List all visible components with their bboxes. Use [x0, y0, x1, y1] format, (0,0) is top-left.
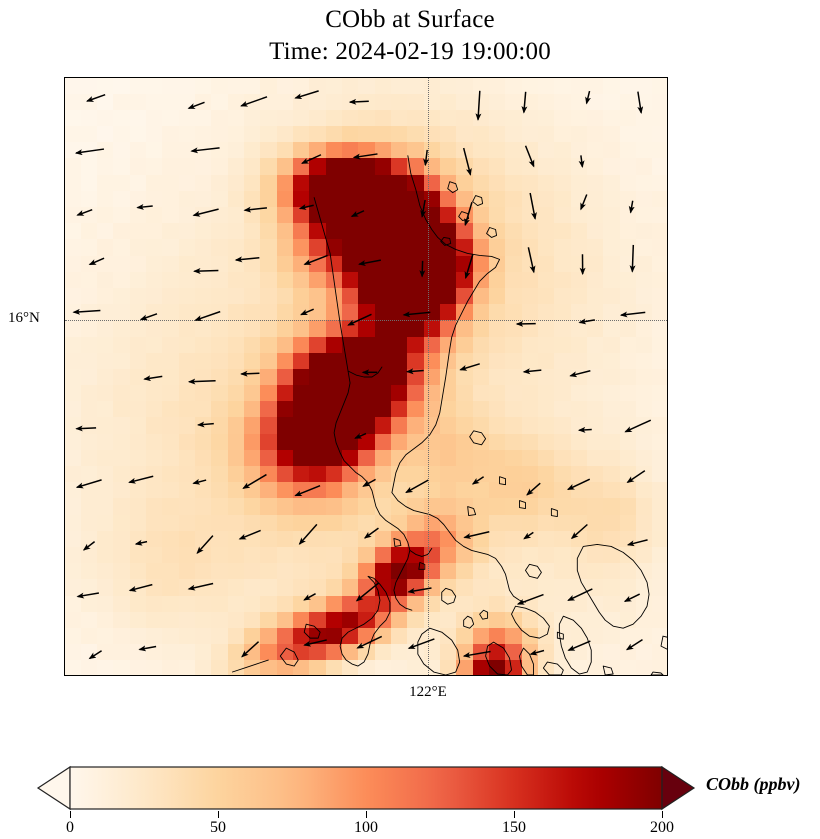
- wind-vector-arrow: [570, 371, 590, 376]
- wind-vector-arrow: [638, 92, 641, 113]
- wind-vector-arrow: [295, 91, 318, 98]
- wind-vector-arrow: [407, 371, 424, 372]
- wind-vector-arrow: [76, 428, 96, 429]
- wind-vector-arrow: [304, 640, 326, 645]
- wind-vector-arrow: [528, 247, 533, 272]
- wind-vector-arrow: [243, 475, 266, 489]
- wind-vector-arrow: [90, 258, 104, 264]
- wind-vector-arrow: [569, 641, 591, 650]
- wind-vector-arrow: [241, 97, 267, 106]
- colorbar-ticklabel-50: 50: [210, 819, 226, 837]
- wind-vector-arrow: [197, 536, 213, 553]
- wind-quiver-layer: [65, 78, 667, 675]
- wind-vector-arrow: [621, 312, 645, 315]
- wind-vector-arrow: [194, 270, 218, 271]
- wind-vector-arrow: [357, 636, 381, 648]
- wind-vector-arrow: [90, 651, 102, 659]
- title-line-2: Time: 2024-02-19 19:00:00: [0, 36, 820, 68]
- wind-vector-arrow: [587, 91, 590, 103]
- wind-vector-arrow: [625, 420, 650, 432]
- colorbar-gradient: [36, 765, 696, 811]
- wind-vector-arrow: [140, 646, 157, 649]
- wind-vector-arrow: [524, 532, 533, 538]
- lat-tick-label-16N: 16°N: [8, 310, 40, 327]
- wind-vector-arrow: [189, 102, 205, 108]
- wind-vector-arrow: [241, 373, 259, 374]
- wind-vector-arrow: [365, 528, 379, 538]
- wind-vector-arrow: [240, 530, 261, 538]
- lon-tick-label-122E: 122°E: [400, 684, 456, 701]
- wind-vector-arrow: [518, 595, 544, 604]
- wind-vector-arrow: [198, 424, 214, 425]
- wind-vector-arrow: [404, 312, 431, 315]
- wind-vector-arrow: [357, 583, 379, 601]
- colorbar-bar[interactable]: 050100150200: [36, 765, 696, 811]
- wind-vector-arrow: [625, 594, 640, 601]
- wind-vector-arrow: [87, 95, 105, 101]
- wind-vector-arrow: [464, 532, 489, 538]
- colorbar-ticklabel-150: 150: [502, 819, 526, 837]
- wind-vector-arrow: [77, 480, 102, 487]
- wind-vector-arrow: [581, 155, 582, 166]
- colorbar-tick-0: [70, 811, 71, 818]
- wind-vector-arrow: [460, 364, 479, 370]
- wind-vector-arrow: [305, 255, 328, 264]
- wind-vector-arrow: [352, 211, 364, 217]
- wind-vector-arrow: [129, 476, 153, 482]
- map-clip: [65, 78, 667, 675]
- wind-vector-arrow: [192, 148, 220, 151]
- wind-vector-arrow: [141, 314, 157, 320]
- wind-vector-arrow: [406, 480, 428, 492]
- wind-vector-arrow: [301, 309, 314, 314]
- wind-vector-arrow: [300, 524, 317, 544]
- tick-lat-16N: [64, 320, 65, 321]
- wind-vector-arrow: [363, 479, 375, 486]
- wind-vector-arrow: [189, 584, 213, 589]
- wind-vector-arrow: [236, 258, 259, 260]
- wind-vector-arrow: [465, 202, 472, 225]
- wind-vector-arrow: [632, 245, 633, 272]
- wind-vector-arrow: [195, 312, 220, 321]
- wind-vector-arrow: [568, 479, 590, 489]
- wind-vector-arrow: [627, 640, 643, 650]
- wind-vector-arrow: [295, 486, 320, 496]
- title-line-1: CObb at Surface: [0, 4, 820, 36]
- wind-vector-arrow: [144, 376, 162, 379]
- wind-vector-arrow: [409, 588, 432, 592]
- wind-vector-arrow: [359, 260, 381, 264]
- wind-vector-arrow: [526, 146, 534, 167]
- wind-vector-arrow: [136, 542, 147, 544]
- colorbar-tick-100: [366, 811, 367, 818]
- map-axes[interactable]: [64, 77, 668, 676]
- wind-vector-arrow: [530, 193, 535, 219]
- wind-vector-arrow: [350, 101, 369, 102]
- wind-vector-arrow: [478, 91, 480, 120]
- figure-title: CObb at Surface Time: 2024-02-19 19:00:0…: [0, 4, 820, 68]
- colorbar-label: CObb (ppbv): [706, 774, 800, 795]
- wind-vector-arrow: [76, 149, 104, 153]
- wind-vector-arrow: [527, 483, 540, 495]
- colorbar-ticklabel-100: 100: [354, 819, 378, 837]
- wind-vector-arrow: [580, 320, 595, 323]
- wind-vector-arrow: [464, 651, 491, 656]
- wind-vector-arrow: [631, 201, 633, 213]
- wind-vector-arrow: [628, 540, 648, 545]
- wind-vector-arrow: [302, 155, 321, 164]
- wind-vector-arrow: [355, 434, 366, 439]
- wind-vector-arrow: [137, 206, 152, 208]
- colorbar-tick-150: [514, 811, 515, 818]
- wind-vector-arrow: [524, 370, 541, 372]
- wind-vector-arrow: [74, 311, 101, 313]
- wind-vector-arrow: [78, 593, 99, 597]
- colorbar-ticklabel-0: 0: [66, 819, 74, 837]
- colorbar[interactable]: 050100150200 CObb (ppbv): [0, 760, 820, 839]
- wind-vector-arrow: [568, 589, 592, 600]
- wind-vector-arrow: [579, 430, 592, 431]
- wind-vector-arrow: [245, 208, 267, 210]
- wind-vector-arrow: [242, 642, 259, 657]
- wind-vector-arrow: [422, 200, 425, 217]
- wind-vector-arrow: [354, 154, 378, 157]
- wind-vector-arrow: [473, 477, 484, 484]
- wind-vector-arrow: [77, 210, 92, 215]
- wind-vector-arrow: [524, 92, 526, 113]
- wind-vector-arrow: [304, 594, 315, 600]
- wind-vector-arrow: [464, 148, 471, 175]
- wind-vector-arrow: [628, 471, 645, 483]
- colorbar-tick-200: [662, 811, 663, 818]
- wind-vector-arrow: [193, 480, 206, 483]
- wind-vector-arrow: [425, 150, 427, 165]
- colorbar-tick-50: [218, 811, 219, 818]
- wind-vector-arrow: [572, 525, 588, 539]
- wind-vector-arrow: [348, 314, 371, 325]
- wind-vector-arrow: [130, 585, 152, 591]
- wind-vector-arrow: [189, 381, 216, 382]
- wind-vector-arrow: [581, 195, 587, 210]
- wind-vector-arrow: [194, 209, 219, 215]
- wind-vector-arrow: [300, 205, 314, 208]
- wind-vector-arrow: [409, 639, 435, 648]
- wind-vector-arrow: [466, 255, 473, 278]
- wind-vector-arrow: [84, 542, 95, 550]
- colorbar-ticklabel-200: 200: [650, 819, 674, 837]
- wind-vector-arrow: [531, 650, 544, 654]
